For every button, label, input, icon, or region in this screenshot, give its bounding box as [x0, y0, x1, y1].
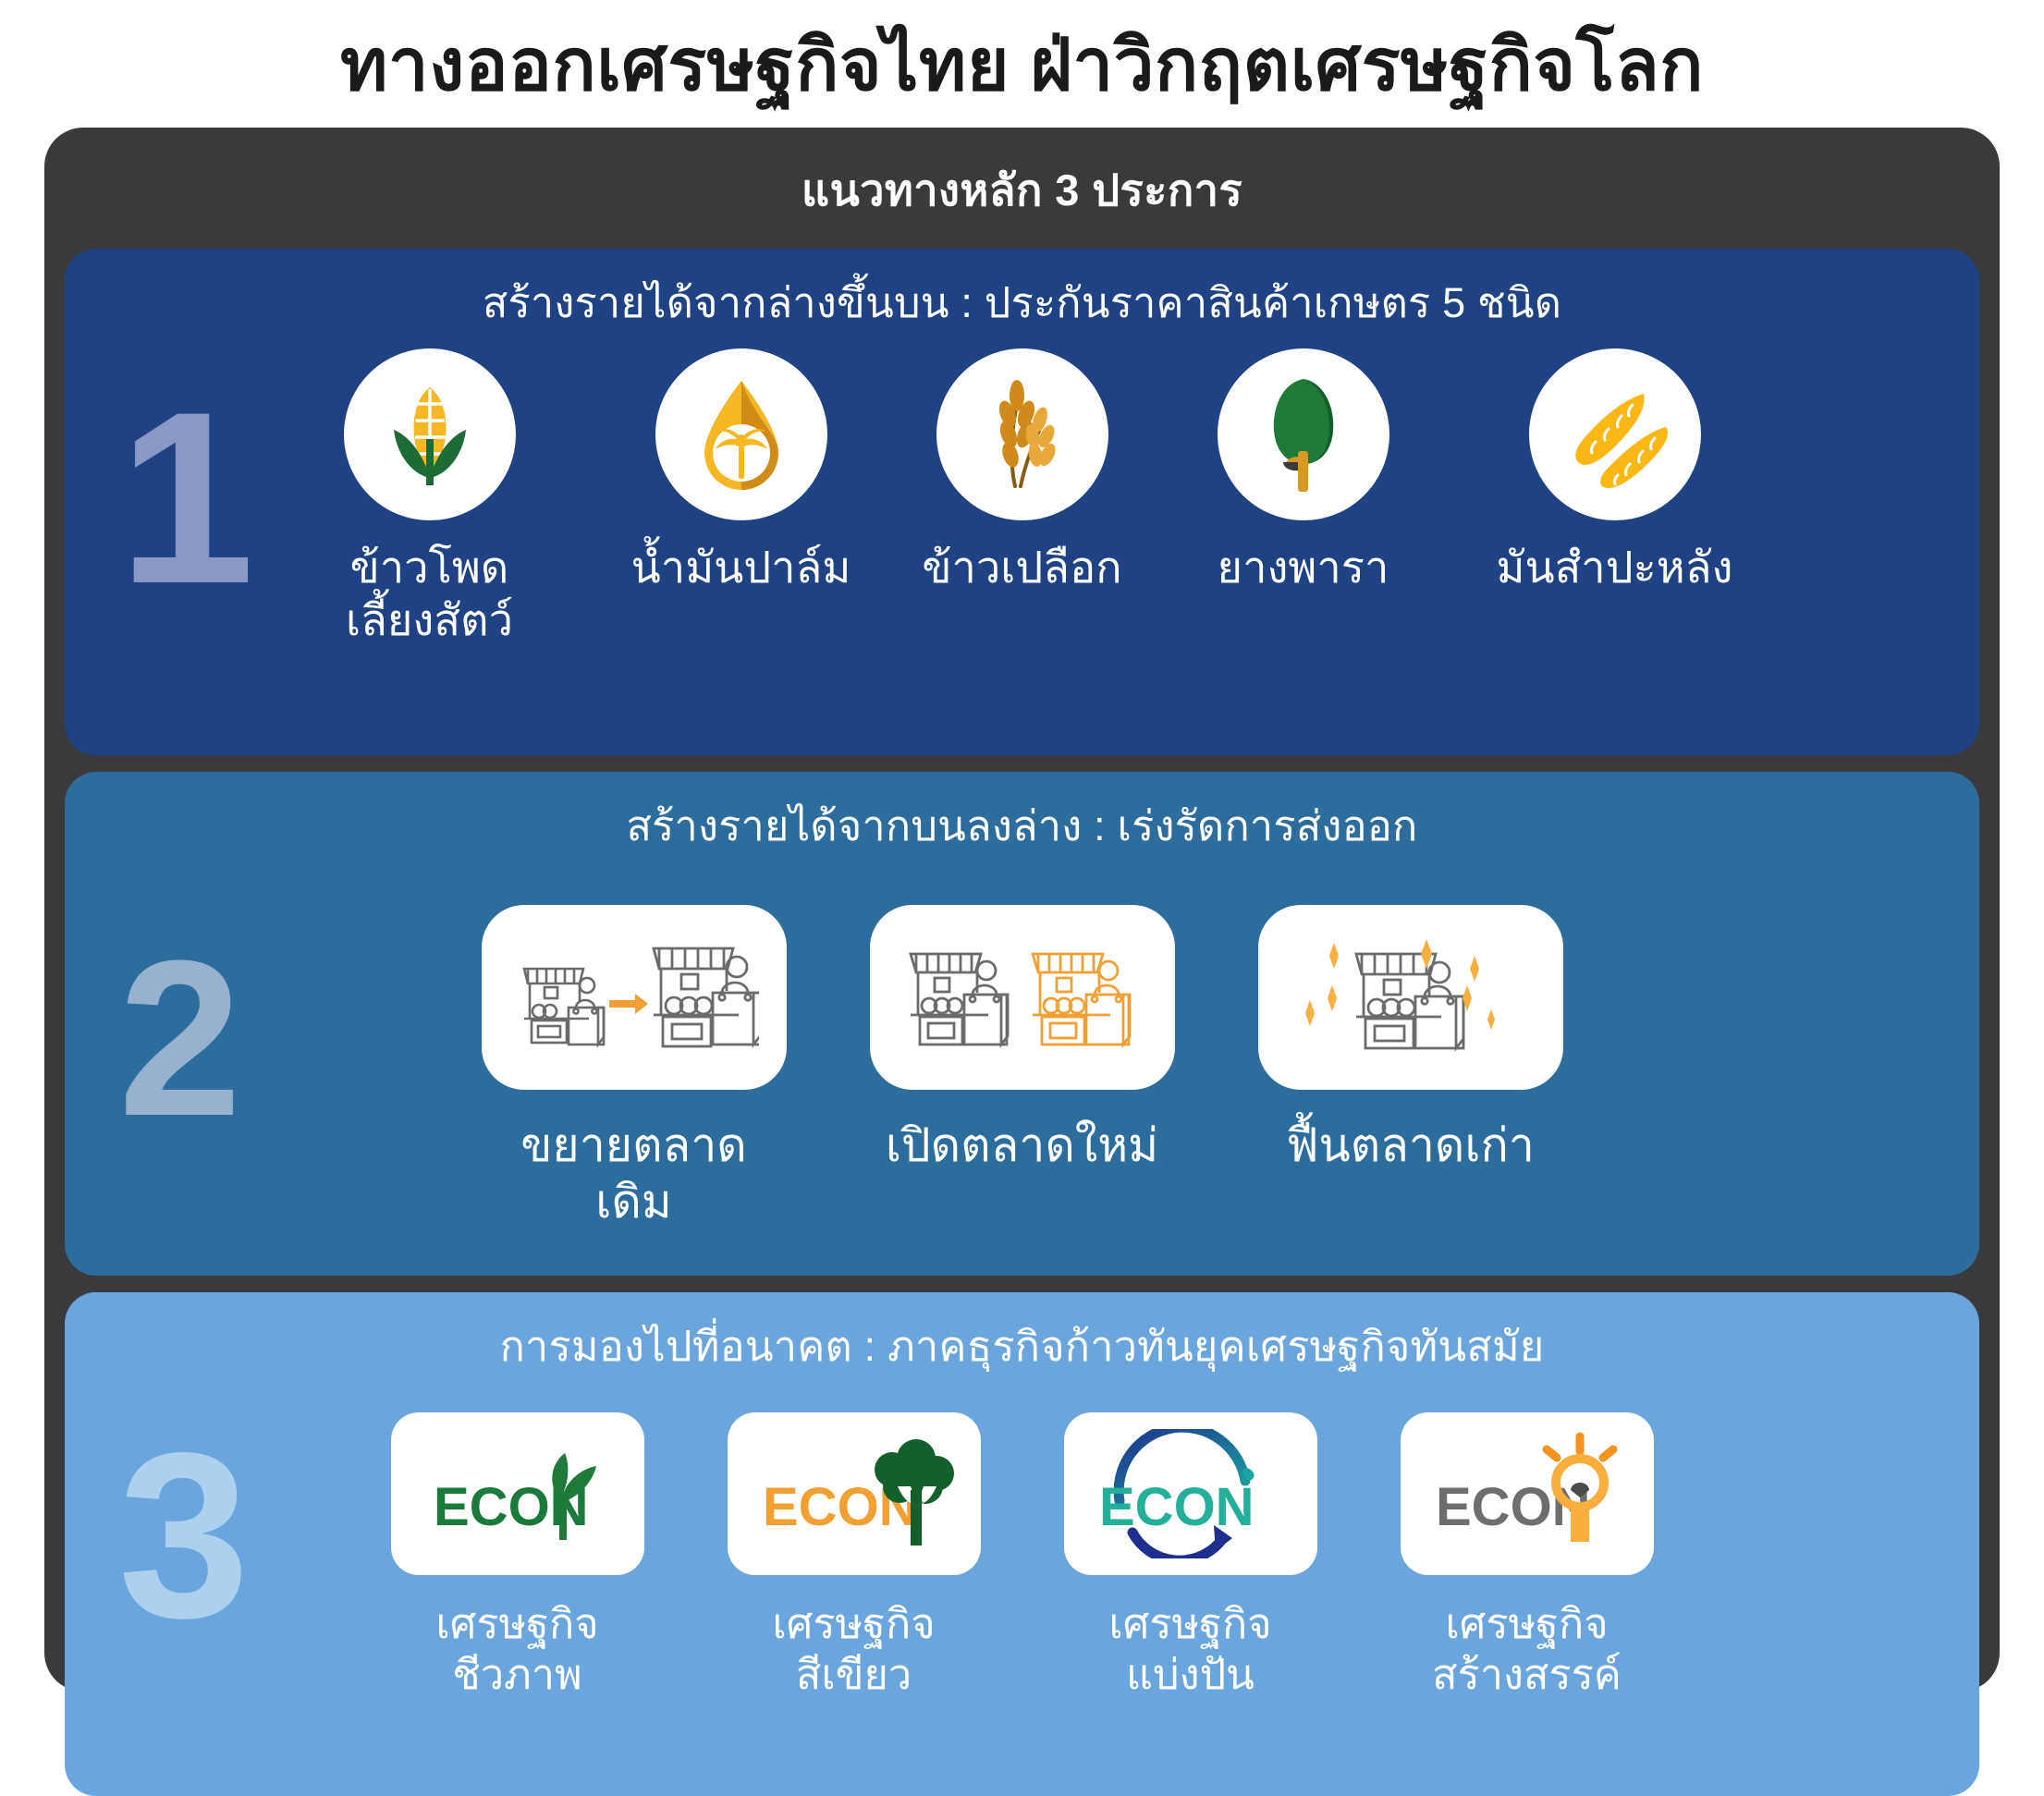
item-green-economy[interactable]: ECON เศรษฐกิจ สีเขียว — [716, 1412, 993, 1701]
item-label: เศรษฐกิจ สีเขียว — [772, 1599, 935, 1701]
item-rubber[interactable]: ยางพารา — [1188, 348, 1419, 593]
page-title: ทางออกเศรษฐกิจไทย ฝ่าวิกฤตเศรษฐกิจโลก — [0, 0, 2044, 128]
section-1-heading: สร้างรายได้จากล่างขึ้นบน : ประกันราคาสิน… — [65, 249, 1979, 336]
item-label: เศรษฐกิจ แบ่งปัน — [1108, 1599, 1271, 1701]
section-3-number: 3 — [118, 1418, 250, 1654]
item-label: น้ำมันปาล์ม — [631, 541, 851, 593]
econ-lightbulb-icon: ECON — [1401, 1412, 1654, 1575]
shop-growth-arrow-icon — [482, 905, 787, 1090]
econ-green-tree-icon: ECON — [728, 1412, 981, 1575]
item-label: ยางพารา — [1218, 541, 1389, 593]
rice-ears-icon — [936, 348, 1108, 520]
item-cassava[interactable]: มันสำปะหลัง — [1469, 348, 1761, 593]
item-label: เปิดตลาดใหม่ — [886, 1118, 1158, 1174]
palm-oil-drop-icon — [655, 348, 827, 520]
svg-text:ECON: ECON — [1099, 1477, 1255, 1537]
item-palm-oil[interactable]: น้ำมันปาล์ม — [626, 348, 857, 593]
item-revive-market[interactable]: ฟื้นตลาดเก่า — [1265, 905, 1557, 1174]
section-1-number: 1 — [118, 376, 254, 621]
econ-circular-arrow-icon: ECON — [1064, 1412, 1317, 1575]
rubber-tree-icon — [1218, 348, 1389, 520]
cassava-icon — [1529, 348, 1701, 520]
frame-header-label: แนวทางหลัก 3 ประการ — [44, 128, 2000, 249]
main-frame: แนวทางหลัก 3 ประการ สร้างรายได้จากล่างขึ… — [44, 128, 2000, 1692]
item-label: ขยายตลาดเดิม — [488, 1118, 780, 1230]
section-2: สร้างรายได้จากบนลงล่าง : เร่งรัดการส่งออ… — [65, 772, 1979, 1276]
item-label: เศรษฐกิจ ชีวภาพ — [435, 1599, 598, 1701]
two-shops-new-icon — [870, 905, 1175, 1090]
item-sharing-economy[interactable]: ECON เศรษฐกิจ แบ่งปัน — [1052, 1412, 1329, 1701]
section-2-heading: สร้างรายได้จากบนลงล่าง : เร่งรัดการส่งออ… — [65, 772, 1979, 859]
section-3-items: ECON เศรษฐกิจ ชีวภาพ ECON — [65, 1379, 1979, 1701]
item-new-market[interactable]: เปิดตลาดใหม่ — [876, 905, 1169, 1174]
item-label: ข้าวเปลือก — [922, 541, 1121, 593]
section-1: สร้างรายได้จากล่างขึ้นบน : ประกันราคาสิน… — [65, 249, 1979, 755]
corn-icon — [344, 348, 516, 520]
econ-bio-sprout-icon: ECON — [391, 1412, 644, 1575]
item-expand-market[interactable]: ขยายตลาดเดิม — [488, 905, 780, 1230]
item-label: เศรษฐกิจ สร้างสรรค์ — [1432, 1599, 1622, 1701]
section-1-items: ข้าวโพด เลี้ยงสัตว์ — [65, 336, 1979, 647]
item-label: ข้าวโพด เลี้ยงสัตว์ — [346, 541, 513, 647]
item-corn[interactable]: ข้าวโพด เลี้ยงสัตว์ — [284, 348, 576, 647]
section-2-items: ขยายตลาดเดิม — [65, 859, 1979, 1230]
section-3: การมองไปที่อนาคต : ภาคธุรกิจก้าวทันยุคเศ… — [65, 1292, 1979, 1796]
item-label: ฟื้นตลาดเก่า — [1286, 1118, 1535, 1174]
section-2-number: 2 — [118, 927, 241, 1149]
item-paddy-rice[interactable]: ข้าวเปลือก — [907, 348, 1138, 593]
item-label: มันสำปะหลัง — [1497, 541, 1733, 593]
section-3-heading: การมองไปที่อนาคต : ภาคธุรกิจก้าวทันยุคเศ… — [65, 1292, 1979, 1379]
item-creative-economy[interactable]: ECON เศรษฐกิจ สร้างสรรค์ — [1389, 1412, 1666, 1701]
item-bio-economy[interactable]: ECON เศรษฐกิจ ชีวภาพ — [379, 1412, 656, 1701]
shop-sparkle-icon — [1258, 905, 1563, 1090]
